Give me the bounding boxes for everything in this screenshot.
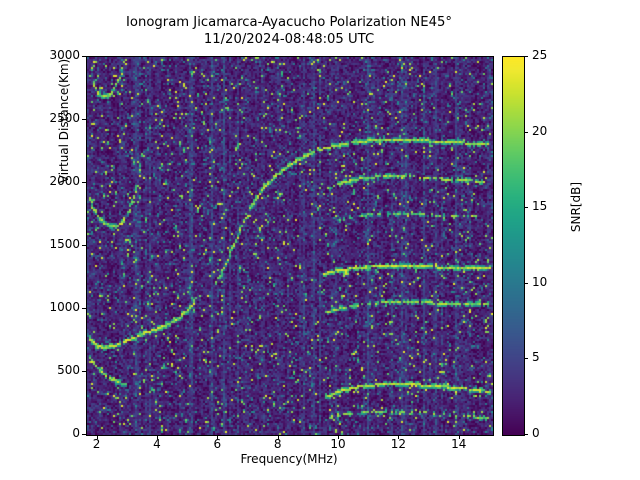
x-axis-label: Frequency(MHz) <box>86 452 492 466</box>
y-tick-mark <box>82 182 86 183</box>
y-tick-label: 1500 <box>34 237 80 251</box>
y-tick-label: 0 <box>34 426 80 440</box>
x-tick-label: 14 <box>439 437 479 451</box>
colorbar-canvas <box>503 57 524 435</box>
ionogram-figure: Ionogram Jicamarca-Ayacucho Polarization… <box>0 0 640 480</box>
y-tick-label: 1000 <box>34 300 80 314</box>
colorbar-tick-label: 5 <box>532 350 540 364</box>
y-tick-mark <box>82 434 86 435</box>
y-tick-mark <box>82 308 86 309</box>
colorbar-tick-label: 20 <box>532 124 547 138</box>
x-tick-label: 8 <box>258 437 298 451</box>
colorbar <box>502 56 525 436</box>
colorbar-tick-mark <box>524 132 528 133</box>
x-tick-label: 2 <box>77 437 117 451</box>
y-tick-mark <box>82 245 86 246</box>
chart-title-line-2: 11/20/2024-08:48:05 UTC <box>86 31 492 48</box>
colorbar-tick-mark <box>524 207 528 208</box>
y-tick-mark <box>82 371 86 372</box>
colorbar-tick-mark <box>524 283 528 284</box>
y-tick-label: 2500 <box>34 111 80 125</box>
y-tick-label: 3000 <box>34 48 80 62</box>
x-tick-label: 6 <box>197 437 237 451</box>
colorbar-tick-mark <box>524 56 528 57</box>
y-tick-mark <box>82 56 86 57</box>
x-tick-label: 4 <box>137 437 177 451</box>
ionogram-heatmap-canvas <box>87 57 493 435</box>
colorbar-tick-label: 10 <box>532 275 547 289</box>
colorbar-tick-mark <box>524 358 528 359</box>
colorbar-tick-label: 0 <box>532 426 540 440</box>
y-tick-label: 2000 <box>34 174 80 188</box>
heatmap-plot-area <box>86 56 494 436</box>
y-tick-mark <box>82 119 86 120</box>
chart-title: Ionogram Jicamarca-Ayacucho Polarization… <box>86 14 492 48</box>
x-tick-label: 12 <box>378 437 418 451</box>
colorbar-label: SNR[dB] <box>569 137 583 277</box>
colorbar-tick-label: 15 <box>532 199 547 213</box>
y-tick-label: 500 <box>34 363 80 377</box>
colorbar-tick-mark <box>524 434 528 435</box>
x-tick-label: 10 <box>318 437 358 451</box>
colorbar-tick-label: 25 <box>532 48 547 62</box>
chart-title-line-1: Ionogram Jicamarca-Ayacucho Polarization… <box>86 14 492 31</box>
